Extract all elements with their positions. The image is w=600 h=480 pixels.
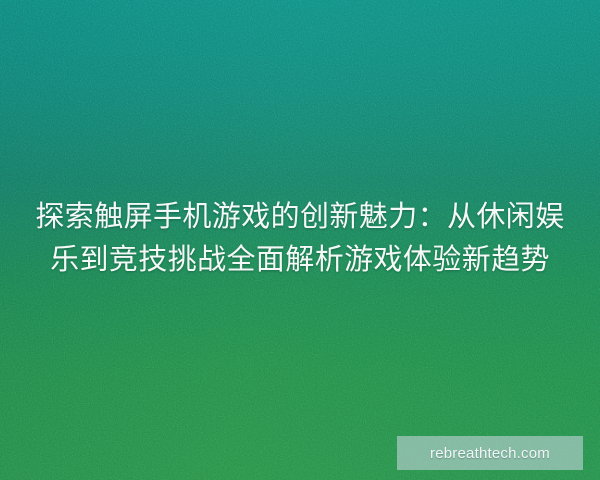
cover-image: 探索触屏手机游戏的创新魅力：从休闲娱乐到竞技挑战全面解析游戏体验新趋势 rebr… <box>0 0 600 480</box>
cover-headline: 探索触屏手机游戏的创新魅力：从休闲娱乐到竞技挑战全面解析游戏体验新趋势 <box>0 196 600 282</box>
watermark-badge: rebreathtech.com <box>397 436 583 470</box>
watermark-label: rebreathtech.com <box>430 446 550 461</box>
